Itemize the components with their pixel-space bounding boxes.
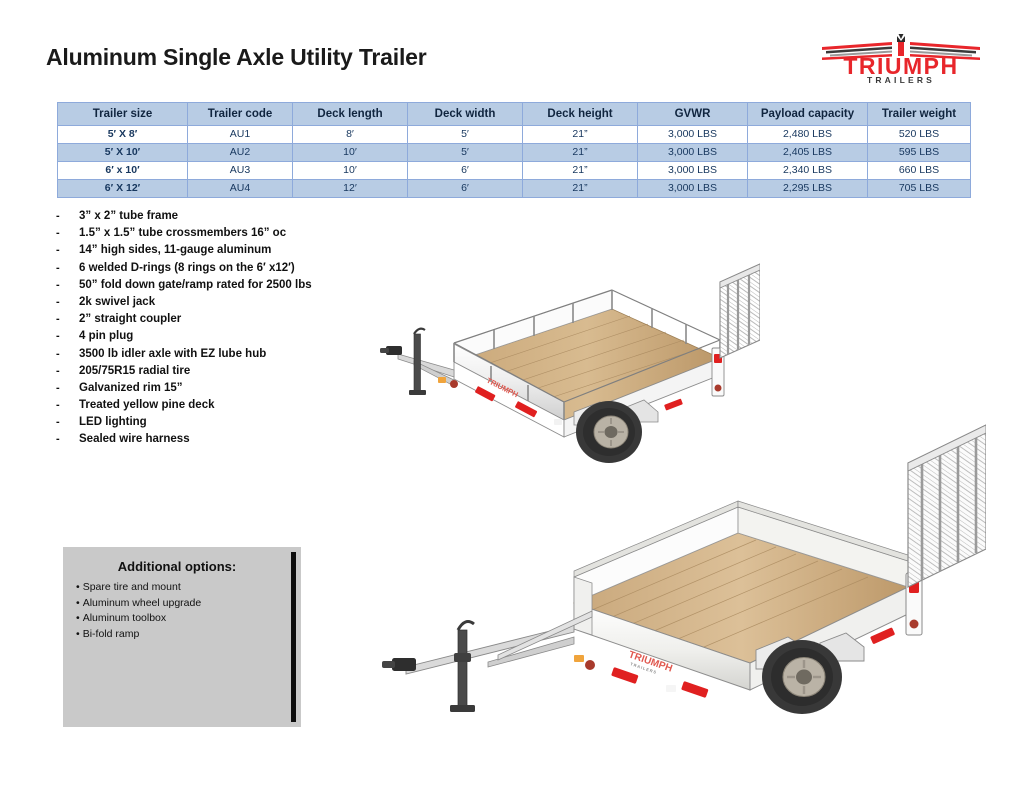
- table-header-row: Trailer size Trailer code Deck length De…: [58, 103, 971, 126]
- list-item: -LED lighting: [56, 416, 386, 433]
- list-bullet: •: [76, 628, 80, 640]
- cell-trailer-size: 5′ X 8′: [58, 126, 188, 144]
- list-item: -3500 lb idler axle with EZ lube hub: [56, 348, 386, 365]
- list-item: -14” high sides, 11-gauge aluminum: [56, 244, 386, 261]
- cell-deck-width: 5′: [408, 144, 523, 162]
- cell-deck-length: 10′: [293, 144, 408, 162]
- list-item: -2” straight coupler: [56, 313, 386, 330]
- list-item: •Spare tire and mount: [76, 581, 201, 597]
- list-bullet: -: [56, 262, 79, 274]
- options-title: Additional options:: [63, 559, 291, 574]
- datasheet-page: Aluminum Single Axle Utility Trailer TRI…: [0, 0, 1024, 788]
- list-item: -50” fold down gate/ramp rated for 2500 …: [56, 279, 386, 296]
- cell-trailer-code: AU2: [188, 144, 293, 162]
- options-list: •Spare tire and mount •Aluminum wheel up…: [76, 581, 201, 643]
- ramp-gate: [908, 425, 986, 587]
- feature-text: 3500 lb idler axle with EZ lube hub: [79, 348, 266, 360]
- cell-trailer-weight: 705 LBS: [868, 180, 971, 198]
- logo-subtitle-text: TRAILERS: [867, 75, 935, 85]
- cell-deck-width: 6′: [408, 180, 523, 198]
- trailer-solid-side-view-image: TRIUMPH TRAILERS: [378, 415, 986, 715]
- specifications-table: Trailer size Trailer code Deck length De…: [57, 102, 971, 198]
- cell-deck-length: 10′: [293, 162, 408, 180]
- list-item: -205/75R15 radial tire: [56, 365, 386, 382]
- cell-deck-height: 21”: [523, 144, 638, 162]
- feature-text: 50” fold down gate/ramp rated for 2500 l…: [79, 279, 312, 291]
- list-item: -Sealed wire harness: [56, 433, 386, 450]
- table-row: 5′ X 10′ AU2 10′ 5′ 21” 3,000 LBS 2,405 …: [58, 144, 971, 162]
- list-item: -4 pin plug: [56, 330, 386, 347]
- cell-deck-width: 6′: [408, 162, 523, 180]
- cell-trailer-size: 5′ X 10′: [58, 144, 188, 162]
- table-row: 5′ X 8′ AU1 8′ 5′ 21” 3,000 LBS 2,480 LB…: [58, 126, 971, 144]
- list-bullet: -: [56, 416, 79, 428]
- list-bullet: -: [56, 313, 79, 325]
- column-header-deck-length: Deck length: [293, 103, 408, 126]
- cell-trailer-code: AU4: [188, 180, 293, 198]
- table-row: 6′ x 10′ AU3 10′ 6′ 21” 3,000 LBS 2,340 …: [58, 162, 971, 180]
- column-header-trailer-size: Trailer size: [58, 103, 188, 126]
- cell-trailer-code: AU3: [188, 162, 293, 180]
- feature-text: 1.5” x 1.5” tube crossmembers 16” oc: [79, 227, 286, 239]
- cell-trailer-size: 6′ X 12′: [58, 180, 188, 198]
- list-bullet: -: [56, 279, 79, 291]
- option-text: Bi-fold ramp: [83, 628, 140, 640]
- feature-text: 14” high sides, 11-gauge aluminum: [79, 244, 271, 256]
- list-item: -2k swivel jack: [56, 296, 386, 313]
- list-item: •Aluminum toolbox: [76, 612, 201, 628]
- feature-text: Sealed wire harness: [79, 433, 190, 445]
- column-header-gvwr: GVWR: [638, 103, 748, 126]
- feature-text: Treated yellow pine deck: [79, 399, 215, 411]
- feature-text: LED lighting: [79, 416, 147, 428]
- column-header-trailer-code: Trailer code: [188, 103, 293, 126]
- wheel-and-tire: [762, 640, 842, 714]
- feature-text: 205/75R15 radial tire: [79, 365, 190, 377]
- list-bullet: -: [56, 433, 79, 445]
- option-text: Aluminum wheel upgrade: [83, 597, 201, 609]
- cell-deck-width: 5′: [408, 126, 523, 144]
- cell-gvwr: 3,000 LBS: [638, 126, 748, 144]
- list-bullet: -: [56, 382, 79, 394]
- column-header-deck-height: Deck height: [523, 103, 638, 126]
- list-item: -Treated yellow pine deck: [56, 399, 386, 416]
- list-item: •Bi-fold ramp: [76, 628, 201, 644]
- cell-trailer-weight: 520 LBS: [868, 126, 971, 144]
- swivel-jack: [450, 622, 475, 712]
- features-list: -3” x 2” tube frame -1.5” x 1.5” tube cr…: [56, 210, 386, 451]
- cell-gvwr: 3,000 LBS: [638, 162, 748, 180]
- list-item: -Galvanized rim 15”: [56, 382, 386, 399]
- cell-trailer-size: 6′ x 10′: [58, 162, 188, 180]
- list-bullet: -: [56, 296, 79, 308]
- list-bullet: -: [56, 244, 79, 256]
- cell-payload-capacity: 2,295 LBS: [748, 180, 868, 198]
- additional-options-box: Additional options: •Spare tire and moun…: [63, 547, 301, 727]
- triumph-trailers-logo: TRIUMPH TRAILERS: [820, 33, 982, 85]
- list-bullet: •: [76, 597, 80, 609]
- options-accent-bar: [291, 552, 296, 722]
- list-bullet: -: [56, 210, 79, 222]
- cell-deck-height: 21”: [523, 126, 638, 144]
- cell-trailer-weight: 595 LBS: [868, 144, 971, 162]
- cell-payload-capacity: 2,340 LBS: [748, 162, 868, 180]
- list-item: •Aluminum wheel upgrade: [76, 597, 201, 613]
- list-bullet: •: [76, 612, 80, 624]
- cell-gvwr: 3,000 LBS: [638, 144, 748, 162]
- cell-gvwr: 3,000 LBS: [638, 180, 748, 198]
- coupler: [392, 658, 416, 671]
- feature-text: 3” x 2” tube frame: [79, 210, 178, 222]
- column-header-deck-width: Deck width: [408, 103, 523, 126]
- feature-text: 6 welded D-rings (8 rings on the 6′ x12′…: [79, 262, 295, 274]
- feature-text: Galvanized rim 15”: [79, 382, 183, 394]
- ramp-gate: [720, 264, 760, 358]
- feature-text: 4 pin plug: [79, 330, 133, 342]
- list-bullet: -: [56, 227, 79, 239]
- trailer-tongue: [382, 611, 592, 674]
- cell-payload-capacity: 2,480 LBS: [748, 126, 868, 144]
- page-title: Aluminum Single Axle Utility Trailer: [46, 44, 426, 71]
- list-bullet: -: [56, 399, 79, 411]
- cell-deck-height: 21”: [523, 180, 638, 198]
- cell-deck-length: 12′: [293, 180, 408, 198]
- table-row: 6′ X 12′ AU4 12′ 6′ 21” 3,000 LBS 2,295 …: [58, 180, 971, 198]
- feature-text: 2” straight coupler: [79, 313, 181, 325]
- list-item: -3” x 2” tube frame: [56, 210, 386, 227]
- option-text: Spare tire and mount: [83, 581, 181, 593]
- list-bullet: -: [56, 348, 79, 360]
- list-bullet: •: [76, 581, 80, 593]
- list-bullet: -: [56, 330, 79, 342]
- list-item: -6 welded D-rings (8 rings on the 6′ x12…: [56, 262, 386, 279]
- cell-deck-length: 8′: [293, 126, 408, 144]
- feature-text: 2k swivel jack: [79, 296, 155, 308]
- option-text: Aluminum toolbox: [83, 612, 166, 624]
- column-header-trailer-weight: Trailer weight: [868, 103, 971, 126]
- cell-trailer-weight: 660 LBS: [868, 162, 971, 180]
- column-header-payload-capacity: Payload capacity: [748, 103, 868, 126]
- list-bullet: -: [56, 365, 79, 377]
- cell-payload-capacity: 2,405 LBS: [748, 144, 868, 162]
- cell-trailer-code: AU1: [188, 126, 293, 144]
- list-item: -1.5” x 1.5” tube crossmembers 16” oc: [56, 227, 386, 244]
- cell-deck-height: 21”: [523, 162, 638, 180]
